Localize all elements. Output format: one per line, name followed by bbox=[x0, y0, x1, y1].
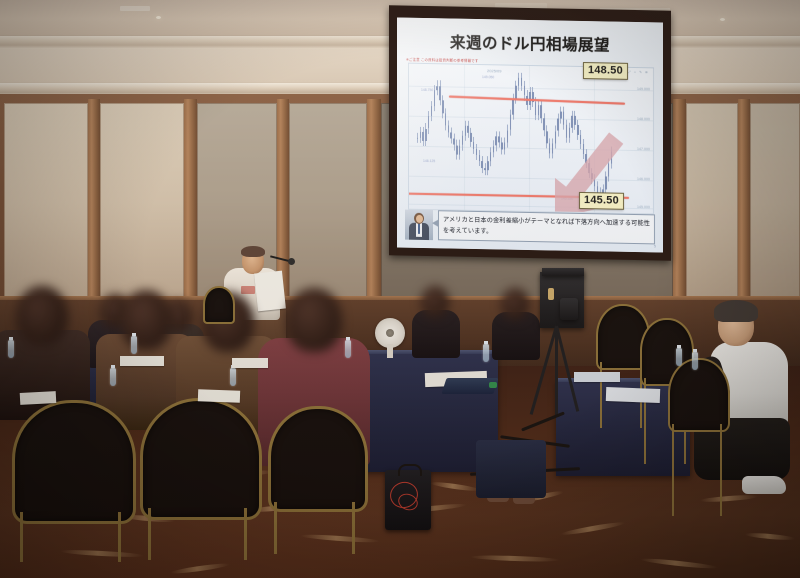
price-tag-support: 145.50 bbox=[579, 192, 624, 210]
slide-surface: 来週のドル円相場展望 ※ご注意 この資料は投資判断の参考情報です ≡ ⊞ ⌁ ↻… bbox=[397, 17, 663, 252]
wall-stile-4 bbox=[367, 99, 381, 304]
slide-caption-text: アメリカと日本の金利差縮小がテーマとなれば下落方向へ加速する可能性を考えています… bbox=[438, 210, 655, 244]
chart-date-label: 2025/09 bbox=[487, 68, 501, 73]
chart-left-low-label: 146.125 bbox=[423, 159, 435, 163]
camera-hood bbox=[542, 268, 584, 276]
ceiling-vent-1 bbox=[120, 6, 150, 11]
wall-panel-7 bbox=[750, 103, 800, 303]
wall-stile-6 bbox=[738, 99, 750, 304]
water-bottle-4 bbox=[230, 368, 236, 386]
chart-axis-label-3: 146.000 bbox=[637, 177, 650, 181]
chair-center bbox=[268, 406, 364, 556]
projected-slide: 来週のドル円相場展望 ※ご注意 この資料は投資判断の参考情報です ≡ ⊞ ⌁ ↻… bbox=[397, 17, 663, 252]
presenter-thumbnail bbox=[405, 210, 433, 241]
wall-panel-2 bbox=[100, 103, 184, 303]
handout-2 bbox=[198, 389, 240, 402]
handout-1 bbox=[20, 391, 57, 405]
speaker-hair bbox=[241, 246, 265, 257]
water-bottle-8 bbox=[692, 352, 698, 370]
camera-lens-icon bbox=[560, 298, 578, 320]
price-tag-resistance: 148.50 bbox=[583, 62, 628, 80]
handout-3 bbox=[232, 358, 268, 368]
chart-axis-label-2: 147.000 bbox=[637, 147, 650, 151]
chart-axis-label-1: 148.000 bbox=[637, 117, 650, 121]
chart-axis-label-4: 145.000 bbox=[637, 205, 650, 209]
wall-panel-4 bbox=[289, 103, 367, 303]
water-bottle-1 bbox=[8, 340, 14, 358]
trousers-hem bbox=[476, 440, 546, 498]
ceiling-light-1 bbox=[156, 16, 161, 19]
water-bottle-3 bbox=[131, 336, 137, 354]
chart-high-point-label: 149.050 bbox=[482, 75, 494, 79]
chair-left-2 bbox=[140, 398, 258, 558]
device-indicator-light bbox=[489, 382, 497, 388]
handout-7 bbox=[120, 356, 164, 366]
water-bottle-2 bbox=[110, 368, 116, 386]
audience-member-4 bbox=[490, 288, 542, 358]
wall-stile-2 bbox=[184, 99, 197, 304]
handout-6 bbox=[574, 372, 620, 382]
projection-screen: 来週のドル円相場展望 ※ご注意 この資料は投資判断の参考情報です ≡ ⊞ ⌁ ↻… bbox=[389, 5, 671, 260]
seated-man-hair bbox=[714, 300, 758, 322]
wall-stile-5 bbox=[673, 99, 686, 304]
bag-handle-icon bbox=[398, 464, 422, 476]
camera-light bbox=[548, 288, 554, 300]
water-bottle-7 bbox=[676, 348, 682, 366]
chart-axis-label-0: 149.000 bbox=[637, 87, 650, 91]
chart-left-high-label: 148.750 bbox=[421, 88, 433, 92]
ceiling-light-3 bbox=[720, 18, 725, 21]
chair-far-right bbox=[668, 358, 728, 518]
forex-chart: ≡ ⊞ ⌁ ↻ ⟲ ⤢ ⌂ ✎ ⊗ 2025/09 149.000 148.00… bbox=[408, 63, 654, 215]
wall-panel-1 bbox=[4, 103, 88, 303]
wall-stile-1 bbox=[88, 99, 100, 304]
audience-member-3 bbox=[410, 286, 462, 356]
slide-page-number: 5 bbox=[654, 243, 656, 248]
chair-behind-podium bbox=[203, 286, 233, 334]
chair-left-1 bbox=[12, 400, 132, 560]
seminar-room-photo: 来週のドル円相場展望 ※ご注意 この資料は投資判断の参考情報です ≡ ⊞ ⌁ ↻… bbox=[0, 0, 800, 578]
seated-man-shoe bbox=[742, 476, 786, 494]
wall-panel-6 bbox=[686, 103, 738, 303]
water-bottle-5 bbox=[345, 340, 351, 358]
slide-caption-row: アメリカと日本の金利差縮小がテーマとなれば下落方向へ加速する可能性を考えています… bbox=[405, 210, 655, 245]
water-bottle-6 bbox=[483, 344, 489, 362]
desk-fan-stem bbox=[387, 344, 393, 358]
slide-title: 来週のドル円相場展望 bbox=[397, 29, 663, 56]
handout-5 bbox=[606, 387, 660, 403]
maroon-person-head bbox=[286, 288, 342, 352]
microphone-head-icon bbox=[288, 258, 295, 265]
